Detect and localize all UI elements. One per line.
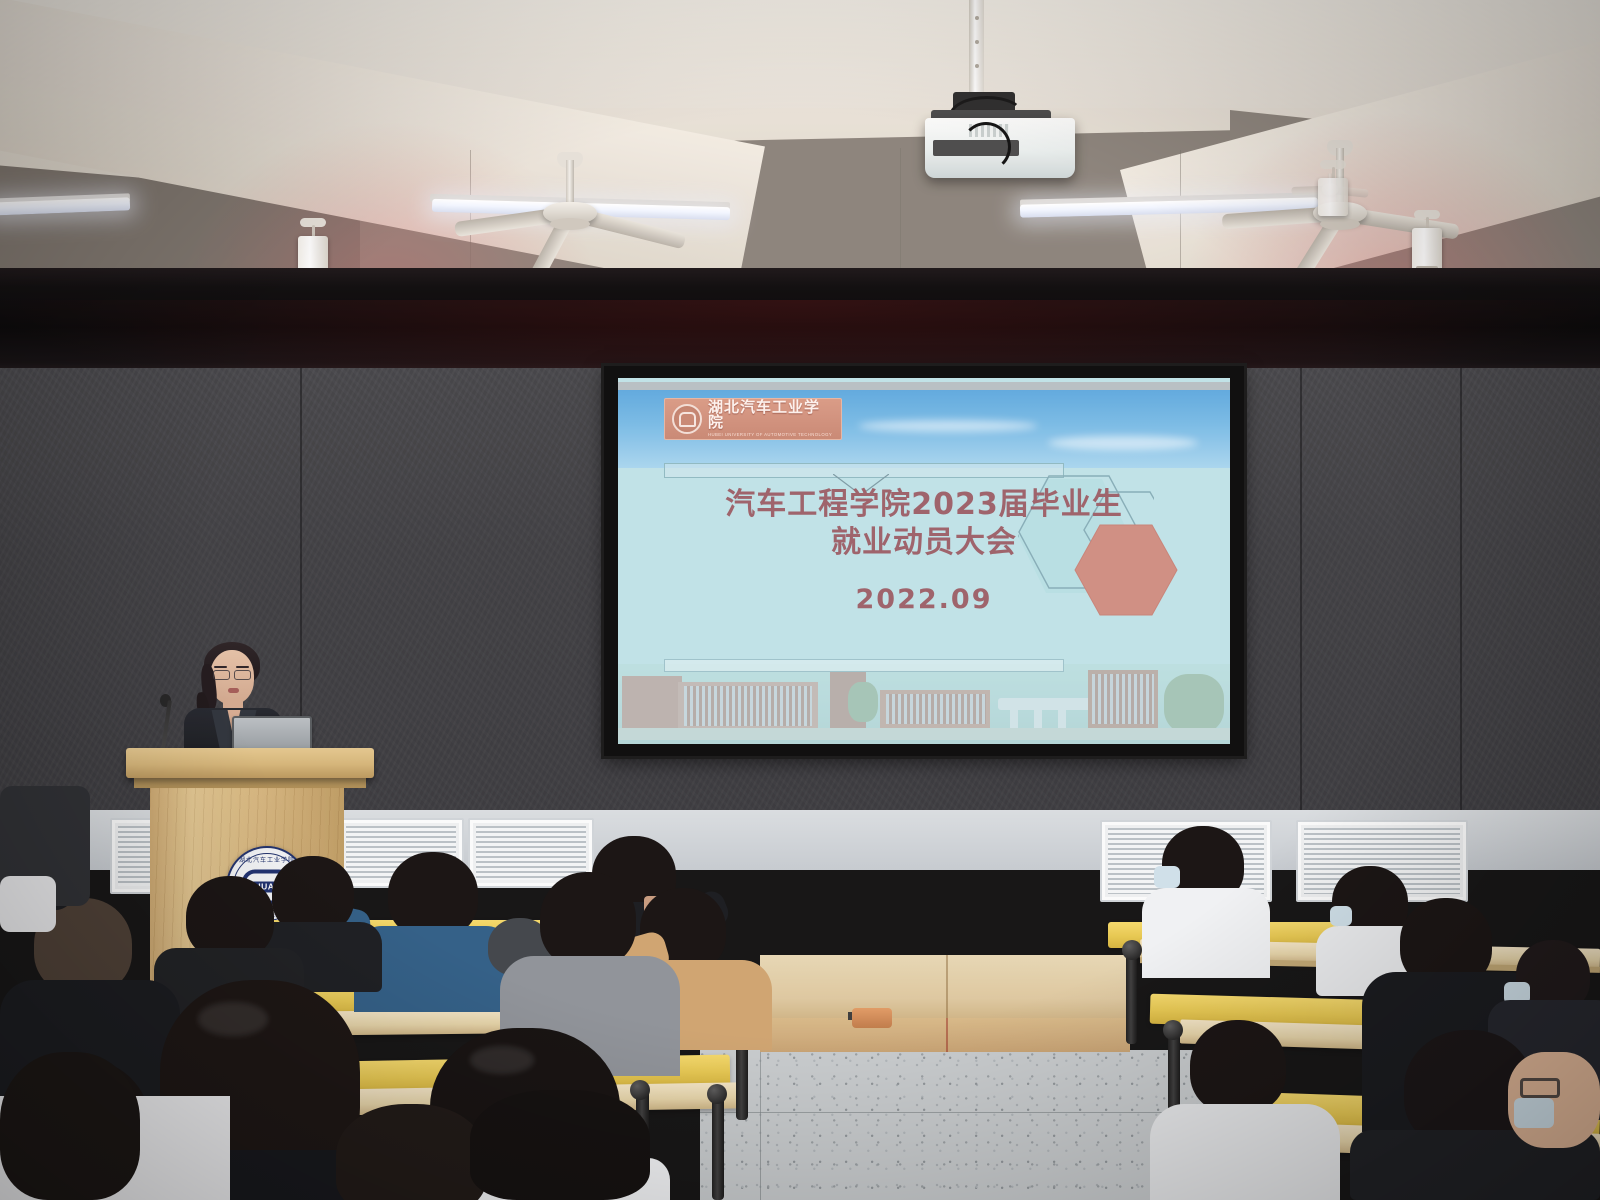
slide-title: 汽车工程学院2023届毕业生 就业动员大会	[618, 486, 1230, 563]
ceiling-seam	[900, 148, 901, 268]
glasses-icon	[1520, 1078, 1560, 1098]
speaker-box	[1318, 178, 1348, 216]
wall-speaker	[1320, 160, 1346, 216]
campus-photo	[618, 664, 1230, 744]
slide-title-line1: 汽车工程学院2023届毕业生	[618, 486, 1230, 524]
projection-screen-frame: 湖北汽车工业学院 HUBEI UNIVERSITY OF AUTOMOTIVE …	[604, 366, 1244, 756]
stage-step	[760, 955, 1130, 1025]
presenter-mouth	[228, 688, 239, 693]
face-mask	[1154, 866, 1180, 888]
university-name-cn: 湖北汽车工业学院	[708, 400, 834, 430]
led-banner: 汽车工程学院就业动员大会暨学院求职大赛启动仪式	[0, 268, 1600, 376]
university-logo-plate: 湖北汽车工业学院 HUBEI UNIVERSITY OF AUTOMOTIVE …	[664, 398, 842, 440]
projection-screen: 湖北汽车工业学院 HUBEI UNIVERSITY OF AUTOMOTIVE …	[618, 378, 1230, 744]
bench-leg-cap	[1122, 940, 1142, 960]
face-mask	[1514, 1098, 1554, 1128]
bench-leg-cap	[630, 1080, 650, 1100]
university-name-en: HUBEI UNIVERSITY OF AUTOMOTIVE TECHNOLOG…	[708, 433, 834, 437]
presentation-slide: 湖北汽车工业学院 HUBEI UNIVERSITY OF AUTOMOTIVE …	[618, 378, 1230, 744]
podium-top-surface	[126, 748, 374, 778]
student-torso	[1142, 888, 1270, 978]
student-torso	[1150, 1104, 1340, 1200]
ceiling-fan[interactable]	[470, 160, 670, 280]
slide-title-line2: 就业动员大会	[618, 524, 1230, 562]
floor	[700, 1050, 1220, 1200]
glasses-icon	[234, 670, 251, 680]
projector-mount-pole	[969, 0, 984, 106]
fan-rod	[566, 160, 574, 206]
student-head-foreground	[0, 1052, 140, 1200]
projector-cable	[961, 122, 1011, 172]
fan-hub-lower	[1320, 218, 1360, 230]
lecture-hall-photo: 汽车工程学院就业动员大会暨学院求职大赛启动仪式	[0, 0, 1600, 1200]
student-head-foreground	[336, 1104, 486, 1200]
wall-seam	[1460, 368, 1462, 828]
bench-leg-cap	[1163, 1020, 1183, 1040]
student-head	[1190, 1020, 1286, 1114]
face-mask	[1330, 906, 1352, 926]
university-seal-icon	[672, 404, 702, 434]
ceiling-projector[interactable]	[925, 0, 1075, 180]
wall-seam	[1300, 368, 1302, 828]
white-object	[0, 876, 56, 932]
student-head-foreground	[470, 1090, 650, 1200]
bench-leg	[712, 1090, 724, 1200]
slide-bottom-bar	[664, 659, 1064, 672]
fan-hub-lower	[550, 218, 590, 230]
stage-riser	[760, 1018, 1130, 1052]
glasses-icon	[213, 670, 230, 680]
slide-date: 2022.09	[618, 584, 1230, 615]
bench-leg-cap	[707, 1084, 727, 1104]
wall-speaker	[1412, 210, 1442, 276]
floor-power-socket[interactable]	[852, 1008, 892, 1028]
campus-photo-veil	[618, 664, 1230, 744]
student-head	[540, 872, 636, 968]
